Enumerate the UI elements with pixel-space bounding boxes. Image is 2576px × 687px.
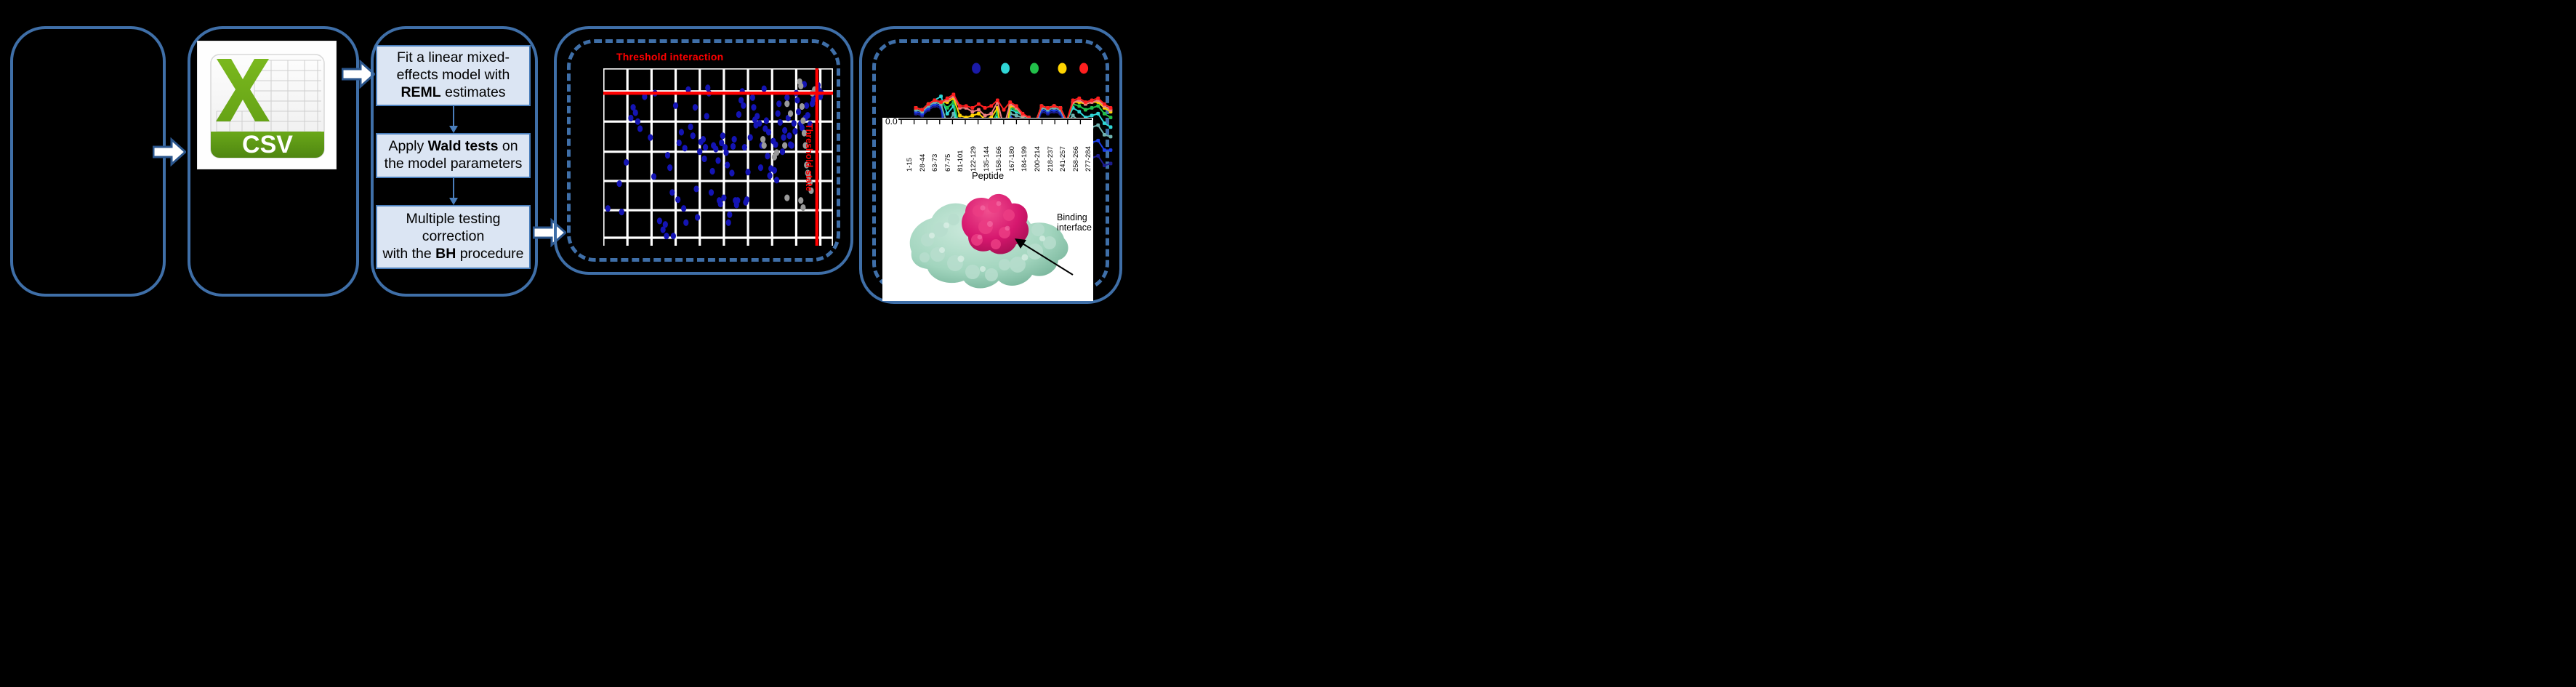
- y-tick-fragment: 0.0: [885, 118, 898, 126]
- peptide-tick-label: 122-129: [970, 146, 978, 172]
- process-box-reml[interactable]: Fit a linear mixed- effects model with R…: [376, 45, 531, 106]
- connector-reml-to-wald: [453, 106, 454, 126]
- binding-interface-label: Binding interface: [1057, 212, 1092, 233]
- peptide-tick-label: 277-284: [1084, 146, 1092, 172]
- peptide-tick-label: 258-266: [1072, 146, 1080, 172]
- peptide-tick-labels: 1-1528-4463-7367-7581-101122-129135-1441…: [898, 126, 1092, 173]
- peptide-tick-label: 135-144: [983, 146, 991, 172]
- block-arrow-into-input: [153, 137, 186, 166]
- csv-file-icon: CSV: [198, 41, 336, 169]
- process-box-wald[interactable]: Apply Wald tests on the model parameters: [376, 133, 531, 178]
- reml-line3-rest: estimates: [441, 84, 506, 100]
- reml-line2: effects model with: [397, 67, 510, 83]
- peptide-tick-label: 218-237: [1047, 146, 1055, 172]
- diagram-canvas: CSV CSV X Fit a linear mixed- effects mo…: [0, 0, 2576, 687]
- wald-line2: the model parameters: [385, 156, 523, 172]
- volcano-scatter-plot: [603, 68, 833, 246]
- wald-line1-post: on: [498, 138, 518, 154]
- volcano-plot-container: Threshold interaction Threshold state: [574, 51, 833, 252]
- wald-line1-bold: Wald tests: [428, 138, 499, 154]
- peptide-tick-label: 200-214: [1034, 146, 1042, 172]
- protein-structure-image: [895, 188, 1082, 298]
- reml-line1: Fit a linear mixed-: [397, 49, 510, 65]
- threshold-interaction-label: Threshold interaction: [616, 51, 723, 63]
- peptide-tick-label: 167-180: [1008, 146, 1016, 172]
- peptide-tick-label: 184-199: [1021, 146, 1029, 172]
- connector-wald-to-bh: [453, 178, 454, 198]
- peptide-tick-label: 158-166: [995, 146, 1003, 172]
- panel-input-stage: [10, 26, 166, 297]
- binding-interface-line2: interface: [1057, 222, 1092, 233]
- bh-line3-post: procedure: [456, 246, 523, 262]
- bh-line1: Multiple testing: [406, 211, 500, 227]
- bh-line3-pre: with the: [382, 246, 435, 262]
- wald-line1-pre: Apply: [388, 138, 427, 154]
- peptide-tick-label: 67-75: [944, 154, 952, 172]
- bh-line3-bold: BH: [435, 246, 456, 262]
- peptide-tick-label: 241-257: [1059, 146, 1067, 172]
- reml-line3-bold: REML: [401, 84, 440, 100]
- threshold-state-label: Threshold state: [804, 124, 814, 191]
- binding-interface-line1: Binding: [1057, 212, 1092, 222]
- bh-line2: correction: [422, 228, 485, 244]
- peptide-axis-label: Peptide: [882, 170, 1093, 181]
- peptide-tick-label: 81-101: [957, 150, 965, 172]
- peptide-tick-label: 28-44: [919, 154, 927, 172]
- peptide-tick-label: 63-73: [931, 154, 939, 172]
- result-white-card: 0.0 1-1528-4463-7367-7581-101122-129135-…: [882, 118, 1093, 301]
- process-box-bh[interactable]: Multiple testing correction with the BH …: [376, 205, 531, 269]
- csv-icon-label: CSV: [242, 131, 293, 158]
